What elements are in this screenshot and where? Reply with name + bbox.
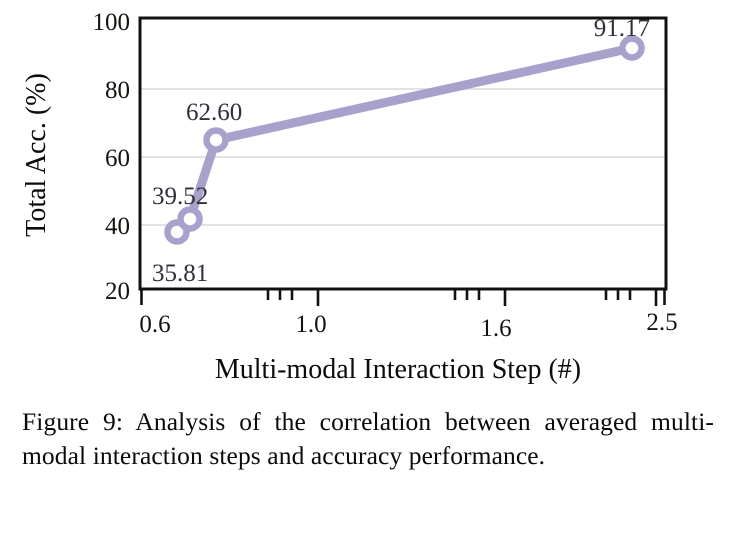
x-tick-label-2-5: 2.5 <box>646 309 677 336</box>
y-tick-label-100: 100 <box>93 9 131 36</box>
data-label-35-81: 35.81 <box>152 260 208 287</box>
x-axis-title: Multi-modal Interaction Step (#) <box>215 354 581 385</box>
data-point-39-52 <box>181 210 200 229</box>
accuracy-vs-interaction-step-chart: 35.81 39.52 62.60 91.17 100 80 60 40 20 <box>0 0 732 395</box>
figure-container: 35.81 39.52 62.60 91.17 100 80 60 40 20 <box>0 0 732 395</box>
y-tick-label-20: 20 <box>105 278 130 305</box>
figure-caption: Figure 9: Analysis of the correlation be… <box>22 405 714 472</box>
y-tick-label-60: 60 <box>105 145 130 172</box>
x-axis-ticks: 0.6 1.0 1.6 2.5 <box>139 309 677 342</box>
x-tick-label-1-0: 1.0 <box>295 311 326 338</box>
figure-number: Figure 9: <box>22 407 123 436</box>
data-point-62-60 <box>207 131 226 150</box>
y-tick-label-80: 80 <box>105 77 130 104</box>
x-tick-label-1-6: 1.6 <box>480 315 511 342</box>
x-tick-label-0-6: 0.6 <box>139 311 170 338</box>
data-label-39-52: 39.52 <box>152 183 208 210</box>
data-label-62-60: 62.60 <box>186 99 242 126</box>
data-label-91-17: 91.17 <box>594 15 650 42</box>
y-axis-ticks: 100 80 60 40 20 <box>93 9 131 305</box>
y-tick-label-40: 40 <box>105 213 130 240</box>
y-axis-title: Total Acc. (%) <box>21 73 52 237</box>
figure-caption-text: Analysis of the correlation between aver… <box>22 407 714 470</box>
x-axis-tick-marks <box>142 289 665 306</box>
